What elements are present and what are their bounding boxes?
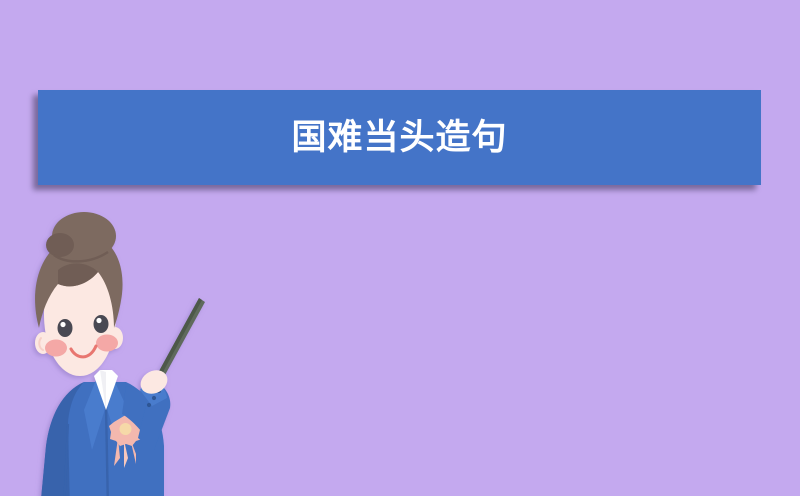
teacher-eye-left bbox=[58, 319, 73, 337]
teacher-illustration bbox=[14, 210, 254, 496]
page-canvas: 国难当头造句 bbox=[0, 0, 800, 496]
teacher-eye-right bbox=[94, 315, 109, 333]
teacher-illustration-svg bbox=[14, 210, 254, 496]
teacher-head bbox=[35, 212, 123, 376]
page-title: 国难当头造句 bbox=[291, 120, 507, 155]
teacher-blush-left bbox=[45, 340, 67, 357]
title-banner: 国难当头造句 bbox=[38, 90, 761, 185]
teacher-blush-right bbox=[96, 335, 118, 352]
